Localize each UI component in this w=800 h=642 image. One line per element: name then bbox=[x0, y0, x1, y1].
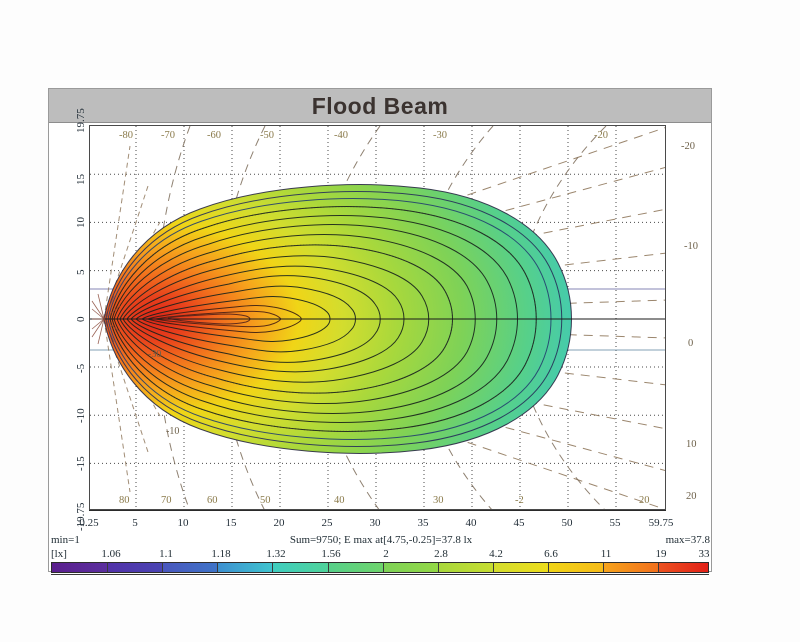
polar-top-0: -80 bbox=[119, 130, 133, 141]
polar-bottom-7: 20 bbox=[639, 495, 650, 506]
legend-tick-5: 2 bbox=[383, 548, 389, 560]
legend-tick-11: 33 bbox=[699, 548, 710, 560]
legend-swatch-10 bbox=[603, 563, 658, 572]
x-tick-0: 0.25 bbox=[79, 517, 98, 529]
legend-tick-2: 1.18 bbox=[211, 548, 230, 560]
legend-tick-8: 6.6 bbox=[544, 548, 558, 560]
polar-right-3: 10 bbox=[686, 439, 697, 450]
beam-fill bbox=[90, 126, 666, 510]
summary-row: min=1 Sum=9750; E max at[4.75,-0.25]=37.… bbox=[49, 534, 713, 548]
summary-label: Sum=9750; E max at[4.75,-0.25]=37.8 lx bbox=[49, 534, 713, 546]
x-tick-2: 10 bbox=[178, 517, 189, 529]
legend-tick-3: 1.32 bbox=[266, 548, 285, 560]
legend-swatch-7 bbox=[438, 563, 493, 572]
y-tick-5: -5 bbox=[75, 364, 87, 373]
y-tick-7: -15 bbox=[75, 456, 87, 471]
chart-title-bar: Flood Beam bbox=[49, 89, 711, 123]
polar-right-1: -10 bbox=[684, 241, 698, 252]
legend-tick-9: 11 bbox=[601, 548, 612, 560]
polar-top-3: -50 bbox=[260, 130, 274, 141]
legend-swatch-3 bbox=[217, 563, 272, 572]
x-tick-10: 50 bbox=[562, 517, 573, 529]
x-tick-5: 25 bbox=[322, 517, 333, 529]
polar-bottom-6: -2 bbox=[515, 495, 524, 506]
legend-swatch-4 bbox=[272, 563, 327, 572]
legend-tick-6: 2.8 bbox=[434, 548, 448, 560]
legend-tick-labels: [lx] 1.06 1.1 1.18 1.32 1.56 2 2.8 4.2 6… bbox=[49, 548, 713, 562]
polar-top-2: -60 bbox=[207, 130, 221, 141]
legend-tick-4: 1.56 bbox=[321, 548, 340, 560]
legend-swatch-8 bbox=[493, 563, 548, 572]
y-tick-6: -10 bbox=[75, 408, 87, 423]
legend-tick-7: 4.2 bbox=[489, 548, 503, 560]
x-tick-4: 20 bbox=[274, 517, 285, 529]
legend-swatch-0 bbox=[52, 563, 107, 572]
plot-area: -30 -10 19.75 15 10 5 0 -5 -10 -15 -19.7… bbox=[49, 123, 713, 573]
color-scale-bar[interactable] bbox=[51, 562, 709, 573]
page-title: Flood Beam bbox=[49, 93, 711, 120]
legend-tick-10: 19 bbox=[656, 548, 667, 560]
y-tick-1: 15 bbox=[75, 174, 87, 185]
polar-top-6: -20 bbox=[594, 130, 608, 141]
polar-top-4: -40 bbox=[334, 130, 348, 141]
polar-top-5: -30 bbox=[433, 130, 447, 141]
polar-right-0: -20 bbox=[681, 141, 695, 152]
legend-unit-label: [lx] bbox=[51, 548, 67, 560]
x-tick-8: 40 bbox=[466, 517, 477, 529]
x-tick-11: 55 bbox=[610, 517, 621, 529]
x-tick-6: 30 bbox=[370, 517, 381, 529]
x-axis-line bbox=[89, 510, 666, 517]
polar-bottom-3: 50 bbox=[260, 495, 271, 506]
beam-contour-svg: -30 -10 bbox=[90, 126, 666, 510]
legend-swatch-5 bbox=[328, 563, 383, 572]
polar-bottom-1: 70 bbox=[161, 495, 172, 506]
polar-inner-label-minus10: -10 bbox=[166, 426, 179, 437]
legend-tick-0: 1.06 bbox=[101, 548, 120, 560]
legend-swatch-2 bbox=[162, 563, 217, 572]
legend-swatch-9 bbox=[548, 563, 603, 572]
polar-bottom-2: 60 bbox=[207, 495, 218, 506]
legend-swatch-11 bbox=[658, 563, 708, 572]
contour-plot: -30 -10 bbox=[89, 125, 666, 510]
legend-baseline bbox=[51, 574, 709, 579]
page-root: Flood Beam bbox=[0, 0, 800, 642]
y-tick-2: 10 bbox=[75, 217, 87, 228]
y-tick-4: 0 bbox=[75, 317, 87, 323]
legend-tick-1: 1.1 bbox=[159, 548, 173, 560]
x-tick-9: 45 bbox=[514, 517, 525, 529]
max-label: max=37.8 bbox=[666, 534, 710, 546]
x-tick-7: 35 bbox=[418, 517, 429, 529]
polar-inner-label-minus30: -30 bbox=[148, 349, 161, 360]
y-tick-3: 5 bbox=[75, 270, 87, 276]
x-tick-1: 5 bbox=[132, 517, 138, 529]
polar-right-2: 0 bbox=[688, 338, 693, 349]
polar-right-4: 20 bbox=[686, 491, 697, 502]
legend-swatch-6 bbox=[383, 563, 438, 572]
polar-bottom-0: 80 bbox=[119, 495, 130, 506]
legend-swatch-1 bbox=[107, 563, 162, 572]
polar-top-1: -70 bbox=[161, 130, 175, 141]
x-tick-3: 15 bbox=[226, 517, 237, 529]
color-legend[interactable]: [lx] 1.06 1.1 1.18 1.32 1.56 2 2.8 4.2 6… bbox=[49, 548, 713, 582]
y-tick-0: 19.75 bbox=[75, 108, 87, 133]
polar-bottom-5: 30 bbox=[433, 495, 444, 506]
x-tick-12: 59.75 bbox=[649, 517, 674, 529]
polar-bottom-4: 40 bbox=[334, 495, 345, 506]
chart-card: Flood Beam bbox=[48, 88, 712, 572]
